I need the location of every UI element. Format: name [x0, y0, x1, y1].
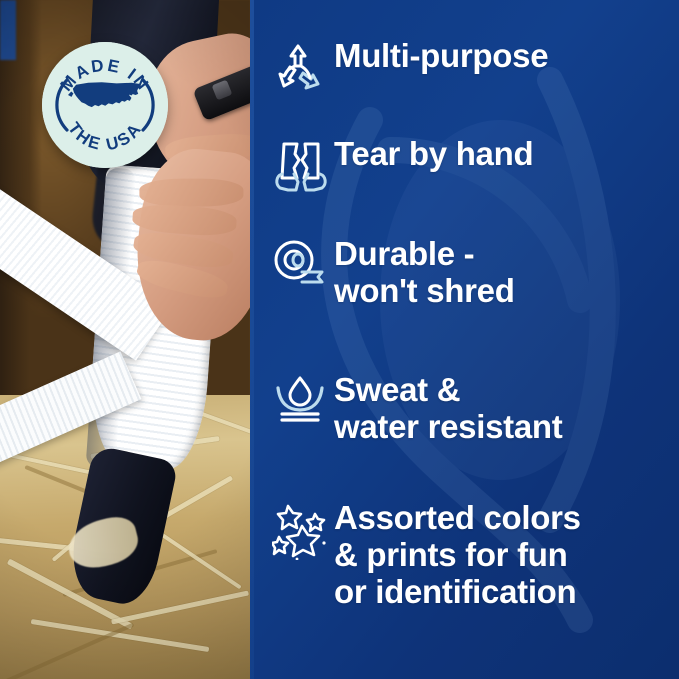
- feature-label: Durable - won't shred: [334, 236, 515, 310]
- feature-item: Durable - won't shred: [272, 236, 515, 310]
- product-feature-graphic: MADE IN THE USA: [0, 0, 679, 679]
- feature-label: Tear by hand: [334, 136, 533, 173]
- water-droplet-icon: [272, 372, 334, 422]
- tape-roll-icon: [272, 236, 334, 288]
- features-list: Multi-purpose Tear: [250, 0, 679, 679]
- feature-label: Assorted colors & prints for fun or iden…: [334, 500, 581, 611]
- feature-item: Tear by hand: [272, 136, 533, 196]
- feature-item: Multi-purpose: [272, 38, 548, 96]
- made-in-usa-badge: MADE IN THE USA: [42, 42, 168, 168]
- feature-item: Assorted colors & prints for fun or iden…: [272, 500, 581, 611]
- features-panel: Multi-purpose Tear: [250, 0, 679, 679]
- feature-label: Multi-purpose: [334, 38, 548, 75]
- recycle-arrows-icon: [272, 38, 334, 96]
- feature-label: Sweat & water resistant: [334, 372, 562, 446]
- stars-icon: [272, 500, 334, 560]
- feature-item: Sweat & water resistant: [272, 372, 562, 446]
- hands-tearing-tape-icon: [272, 136, 334, 196]
